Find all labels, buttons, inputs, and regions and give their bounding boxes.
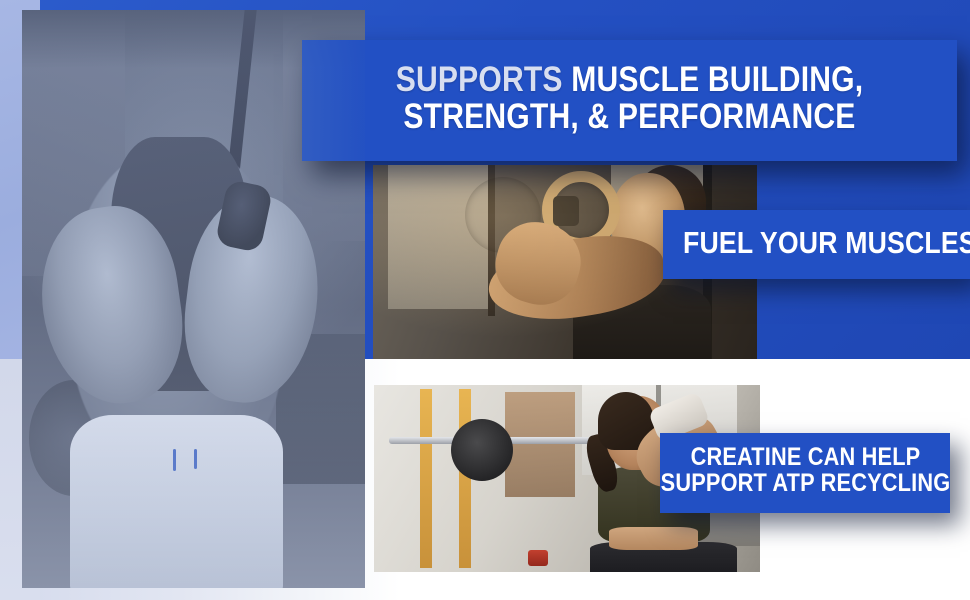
headline-lead-word: SUPPORTS [396,60,563,99]
headline-banner: SUPPORTS MUSCLE BUILDING, STRENGTH, & PE… [302,40,957,161]
fuel-callout-text: FUEL YOUR MUSCLES [683,227,970,259]
drink-wall-panel [505,392,574,497]
creatine-atp-callout: CREATINE CAN HELP SUPPORT ATP RECYCLING [660,433,950,513]
headline-text: SUPPORTS MUSCLE BUILDING, STRENGTH, & PE… [360,62,899,134]
fuel-your-muscles-callout: FUEL YOUR MUSCLES [663,210,970,279]
creatine-callout-line1: CREATINE CAN HELP [690,443,920,471]
creatine-callout-line2: SUPPORT ATP RECYCLING [660,471,950,497]
creatine-product-banner: SUPPORTS MUSCLE BUILDING, STRENGTH, & PE… [0,0,970,600]
barbell-weight-plate [451,419,513,481]
squat-rack-post-left [420,389,432,569]
drink-midriff [609,527,698,549]
creatine-callout-text: CREATINE CAN HELP SUPPORT ATP RECYCLING [660,445,950,497]
drink-red-cup [528,550,548,566]
